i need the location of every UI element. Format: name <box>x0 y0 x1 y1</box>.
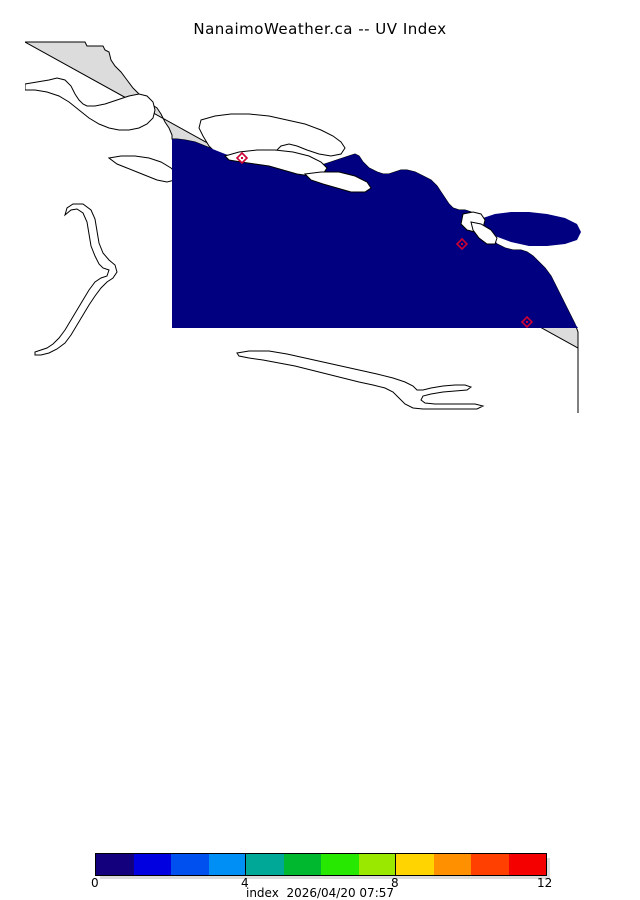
colorbar-segment-11 <box>509 854 547 875</box>
map-plot-area <box>25 38 615 413</box>
colorbar-segment-8 <box>396 854 434 875</box>
colorbar-segment-1 <box>134 854 172 875</box>
colorbar-segment-9 <box>434 854 472 875</box>
colorbar-tick-8 <box>395 853 396 876</box>
colorbar-segment-2 <box>171 854 209 875</box>
colorbar-segment-5 <box>284 854 322 875</box>
colorbar-segment-6 <box>321 854 359 875</box>
colorbar[interactable] <box>95 853 547 876</box>
page-title: NanaimoWeather.ca -- UV Index <box>0 20 640 38</box>
colorbar-caption: index 2026/04/20 07:57 <box>0 886 640 900</box>
uv-index-map-page: NanaimoWeather.ca -- UV Index <box>0 0 640 480</box>
colorbar-container: 0 4 8 12 index 2026/04/20 07:57 <box>0 424 640 480</box>
colorbar-tick-4 <box>245 853 246 876</box>
colorbar-segment-3 <box>209 854 247 875</box>
colorbar-segment-7 <box>359 854 397 875</box>
colorbar-segment-4 <box>246 854 284 875</box>
colorbar-segment-0 <box>96 854 134 875</box>
map-svg <box>25 38 615 413</box>
colorbar-segment-10 <box>471 854 509 875</box>
